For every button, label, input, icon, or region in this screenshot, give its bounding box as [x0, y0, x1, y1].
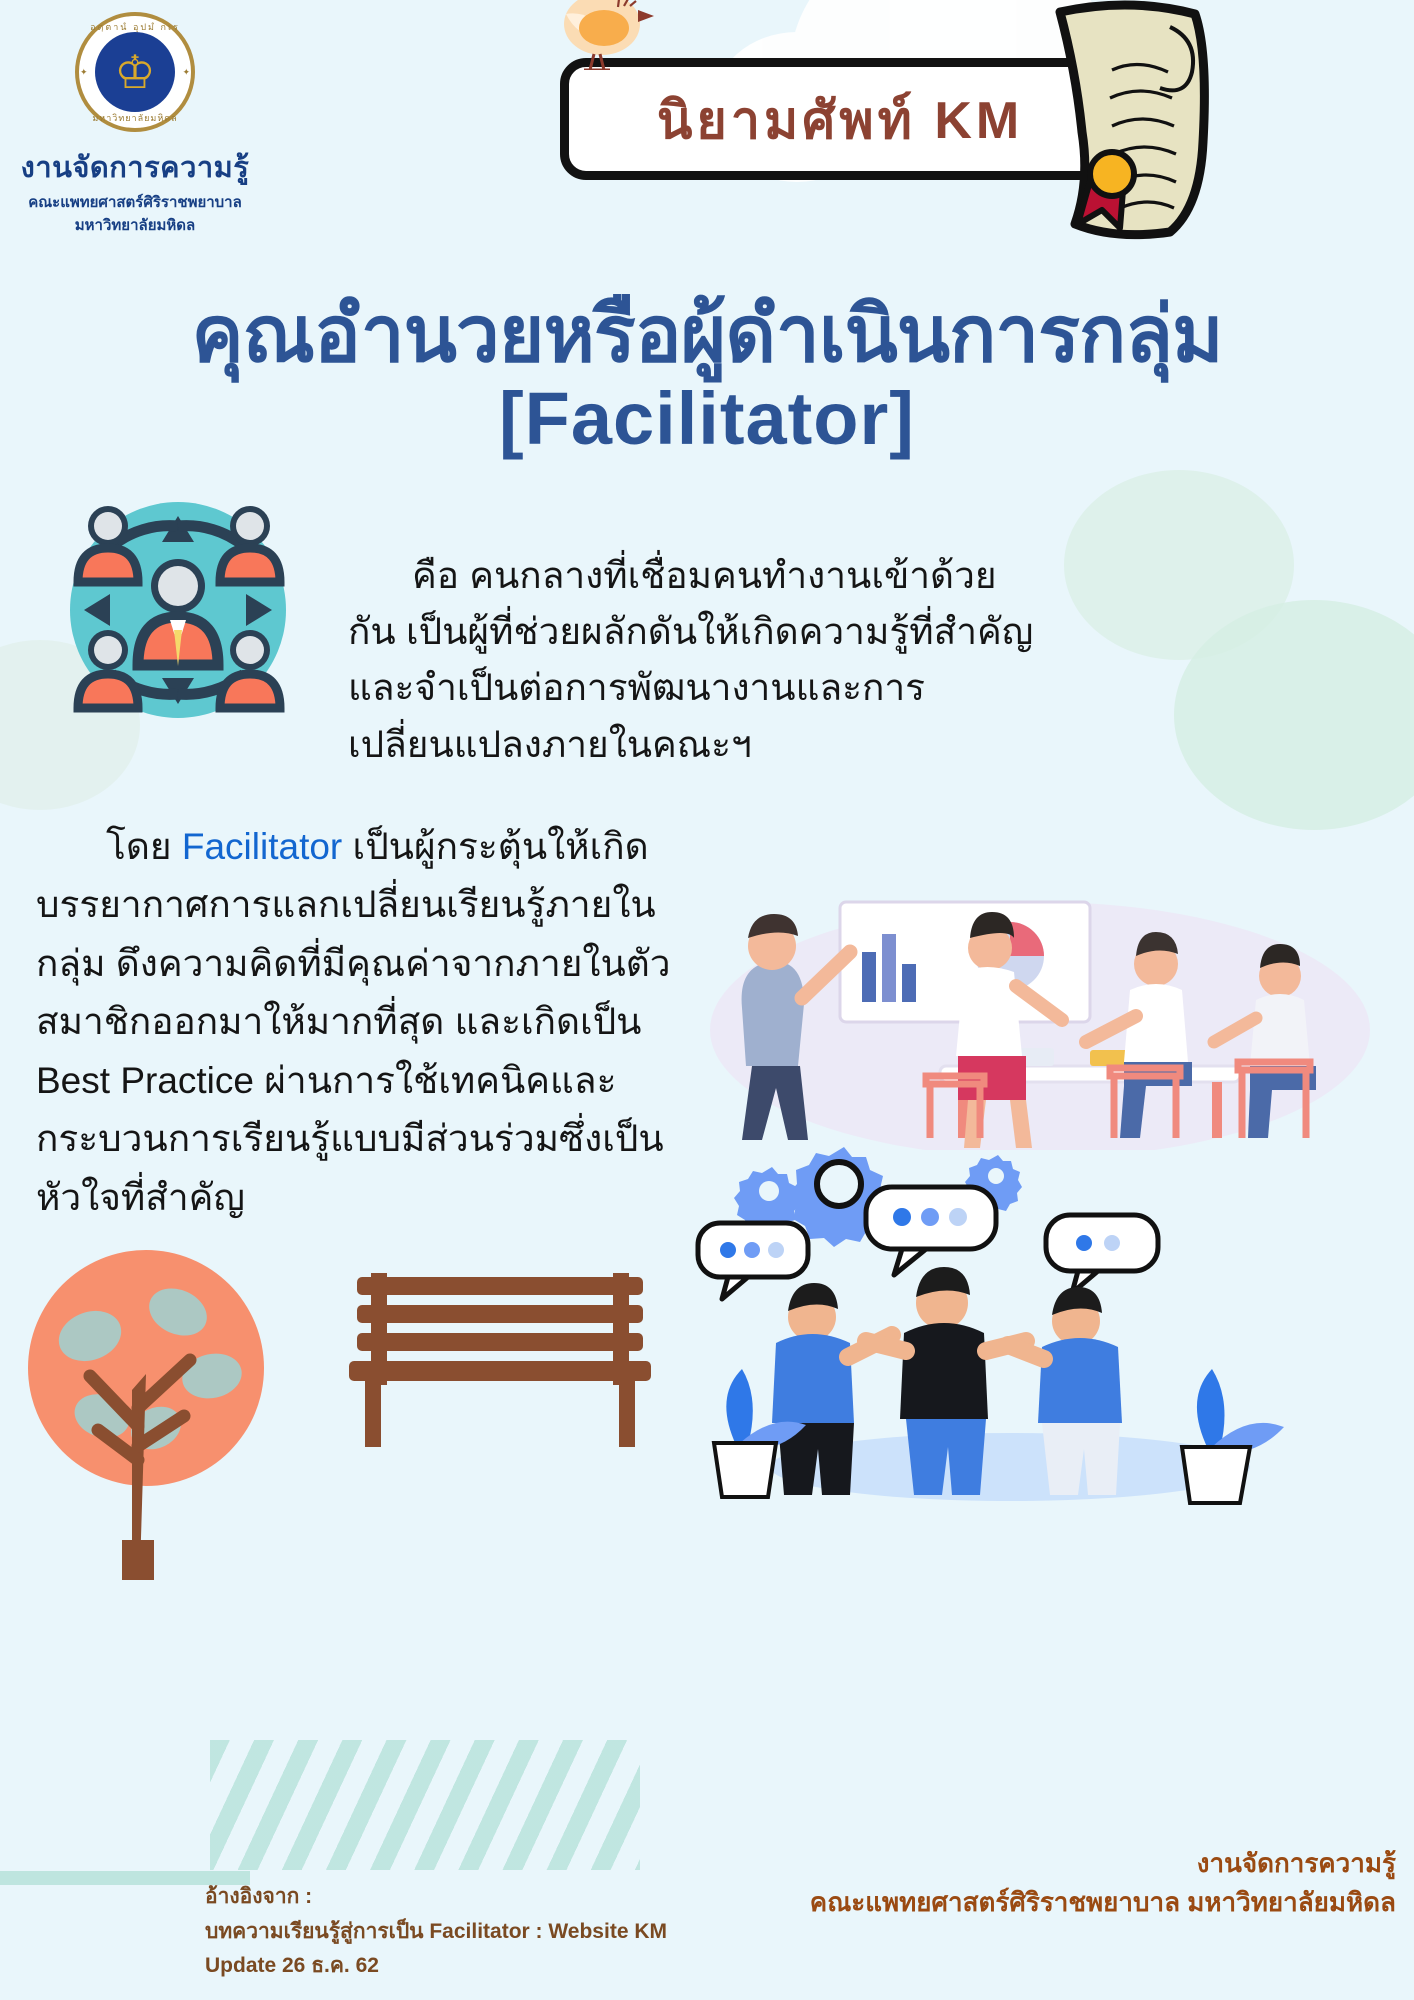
logo-title: งานจัดการความรู้: [20, 144, 250, 190]
banner-title: นิยามศัพท์ KM: [657, 78, 1023, 161]
organization-credit: งานจัดการความรู้ คณะแพทยศาสตร์ศิริราชพยา…: [810, 1844, 1396, 1922]
seal-arc-bottom-text: มหาวิทยาลัยมหิดล: [75, 111, 195, 125]
org-credit-line2: คณะแพทยศาสตร์ศิริราชพยาบาล มหาวิทยาลัยมห…: [810, 1883, 1396, 1922]
seal-diamond-left: ✦: [80, 67, 88, 78]
seal-center: ♔: [95, 32, 175, 112]
mahidol-logo-block: อตฺตานํ อุปมํ กเร ✦ ✦ ♔ มหาวิทยาลัยมหิดล…: [20, 12, 250, 237]
meeting-presentation-illustration: [690, 890, 1390, 1150]
reference-block: อ้างอิงจาก : บทความเรียนรู้สู่การเป็น Fa…: [205, 1880, 667, 1984]
seal-diamond-right: ✦: [182, 67, 190, 78]
logo-subtitle-line2: มหาวิทยาลัยมหิดล: [20, 216, 250, 236]
facilitator-keyword: Facilitator: [182, 826, 342, 867]
org-credit-line1: งานจัดการความรู้: [810, 1844, 1396, 1883]
reference-source: บทความเรียนรู้สู่การเป็น Facilitator : W…: [205, 1915, 667, 1950]
page-title-line2: [Facilitator]: [0, 376, 1414, 461]
tree-illustration: [28, 1240, 278, 1580]
crown-emblem-icon: ♔: [114, 49, 155, 95]
definition-paragraph: คือ คนกลางที่เชื่อมคนทำงานเข้าด้วยกัน เป…: [348, 548, 1038, 773]
park-bench-illustration: [345, 1265, 655, 1455]
reference-update: Update 26 ธ.ค. 62: [205, 1949, 667, 1984]
team-discussion-illustration: [680, 1145, 1400, 1505]
mahidol-seal-icon: อตฺตานํ อุปมํ กเร ✦ ✦ ♔ มหาวิทยาลัยมหิดล: [75, 12, 195, 132]
page-title: คุณอำนวยหรือผู้ดำเนินการกลุ่ม [Facilitat…: [0, 292, 1414, 461]
striped-ground: [210, 1740, 640, 1870]
explanation-text-before: โดย: [106, 826, 182, 867]
facilitator-group-icon: [28, 460, 328, 750]
bird-icon: [550, 0, 660, 70]
logo-subtitle-line1: คณะแพทยศาสตร์ศิริราชพยาบาล: [20, 193, 250, 213]
page-title-line1: คุณอำนวยหรือผู้ดำเนินการกลุ่ม: [0, 292, 1414, 376]
scroll-parchment-icon: [1020, 0, 1220, 242]
header-banner: นิยามศัพท์ KM: [560, 58, 1120, 180]
explanation-text-after: เป็นผู้กระตุ้นให้เกิดบรรยากาศการแลกเปลี่…: [36, 826, 671, 1218]
reference-label: อ้างอิงจาก :: [205, 1880, 667, 1915]
explanation-paragraph: โดย Facilitator เป็นผู้กระตุ้นให้เกิดบรร…: [36, 818, 696, 1227]
